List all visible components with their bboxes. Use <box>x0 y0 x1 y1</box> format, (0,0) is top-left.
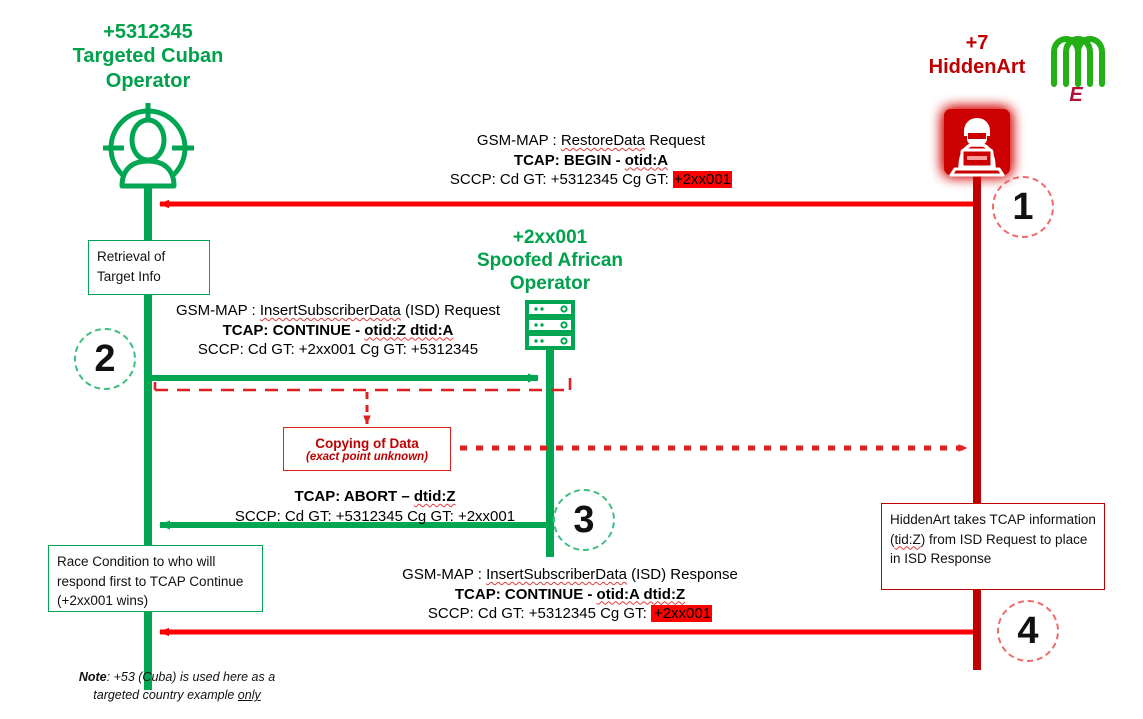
message-3-line2: TCAP: ABORT – dtid:Z <box>185 487 565 507</box>
actor-label-spoofed-operator: +2xx001 Spoofed African Operator <box>450 226 650 296</box>
footnote: Note: +53 (Cuba) is used here as a targe… <box>62 668 292 704</box>
actor-msisdn-spoofed: +2xx001 <box>450 226 650 249</box>
copying-subtitle: (exact point unknown) <box>284 451 450 463</box>
message-4-line1: GSM-MAP : InsertSubscriberData (ISD) Res… <box>375 565 765 585</box>
diagram-canvas: +5312345 Targeted Cuban Operator +2xx001… <box>0 0 1143 719</box>
message-label-2: GSM-MAP : InsertSubscriberData (ISD) Req… <box>143 301 533 360</box>
highlight-gt-1: +2xx001 <box>673 171 732 188</box>
message-2-line2: TCAP: CONTINUE - otid:Z dtid:A <box>143 321 533 341</box>
actor-msisdn-target: +5312345 <box>48 20 248 44</box>
step-marker-2: 2 <box>74 328 136 390</box>
bracket-copying-span <box>155 378 570 424</box>
note-retrieval-target-info: Retrieval of Target Info <box>88 240 210 295</box>
actor-label-target-operator: +5312345 Targeted Cuban Operator <box>48 20 248 93</box>
brand-logo-letter: E <box>1048 84 1104 107</box>
message-1-line3: SCCP: Cd GT: +5312345 Cg GT: +2xx001 <box>401 170 781 190</box>
step-marker-3: 3 <box>553 489 615 551</box>
actor-msisdn-attacker: +7 <box>882 31 1072 55</box>
note-race-condition: Race Condition to who will respond first… <box>48 545 263 612</box>
actor-name-target-line2: Operator <box>48 69 248 93</box>
actor-name-target-line1: Targeted Cuban <box>48 44 248 68</box>
step-1-number: 1 <box>1012 186 1033 229</box>
note-hiddenart-tcap: HiddenArt takes TCAP information (tid:Z)… <box>881 503 1105 590</box>
message-2-line1: GSM-MAP : InsertSubscriberData (ISD) Req… <box>143 301 533 321</box>
copying-title: Copying of Data <box>284 436 450 451</box>
actor-name-spoofed-line2: Operator <box>450 272 650 295</box>
target-person-icon <box>103 103 194 196</box>
message-label-3: TCAP: ABORT – dtid:Z SCCP: Cd GT: +53123… <box>185 487 565 526</box>
actor-name-attacker: HiddenArt <box>882 55 1072 79</box>
server-rack-icon <box>527 302 573 348</box>
message-1-line1: GSM-MAP : RestoreData Request <box>401 131 781 151</box>
message-label-4: GSM-MAP : InsertSubscriberData (ISD) Res… <box>375 565 765 624</box>
message-3-line3: SCCP: Cd GT: +5312345 Cg GT: +2xx001 <box>185 507 565 527</box>
highlight-gt-4b: +2xx001 <box>653 605 712 622</box>
actor-label-attacker: +7 HiddenArt <box>882 31 1072 80</box>
message-label-1: GSM-MAP : RestoreData Request TCAP: BEGI… <box>401 131 781 190</box>
note-copying-of-data: Copying of Data (exact point unknown) <box>283 427 451 471</box>
lifeline-attacker <box>973 170 981 670</box>
message-4-line2: TCAP: CONTINUE - otid:A dtid:Z <box>375 585 765 605</box>
actor-name-spoofed-line1: Spoofed African <box>450 249 650 272</box>
message-4-line3: SCCP: Cd GT: +5312345 Cg GT: +2xx001 <box>375 604 765 624</box>
footnote-label: Note <box>79 670 107 684</box>
step-2-number: 2 <box>94 338 115 381</box>
step-marker-4: 4 <box>997 600 1059 662</box>
hacker-hoodie-icon <box>944 109 1010 175</box>
footnote-emphasis: only <box>238 688 261 702</box>
message-2-line3: SCCP: Cd GT: +2xx001 Cg GT: +5312345 <box>143 340 533 360</box>
step-4-number: 4 <box>1017 610 1038 653</box>
step-marker-1: 1 <box>992 176 1054 238</box>
message-1-line2: TCAP: BEGIN - otid:A <box>401 151 781 171</box>
step-3-number: 3 <box>573 499 594 542</box>
